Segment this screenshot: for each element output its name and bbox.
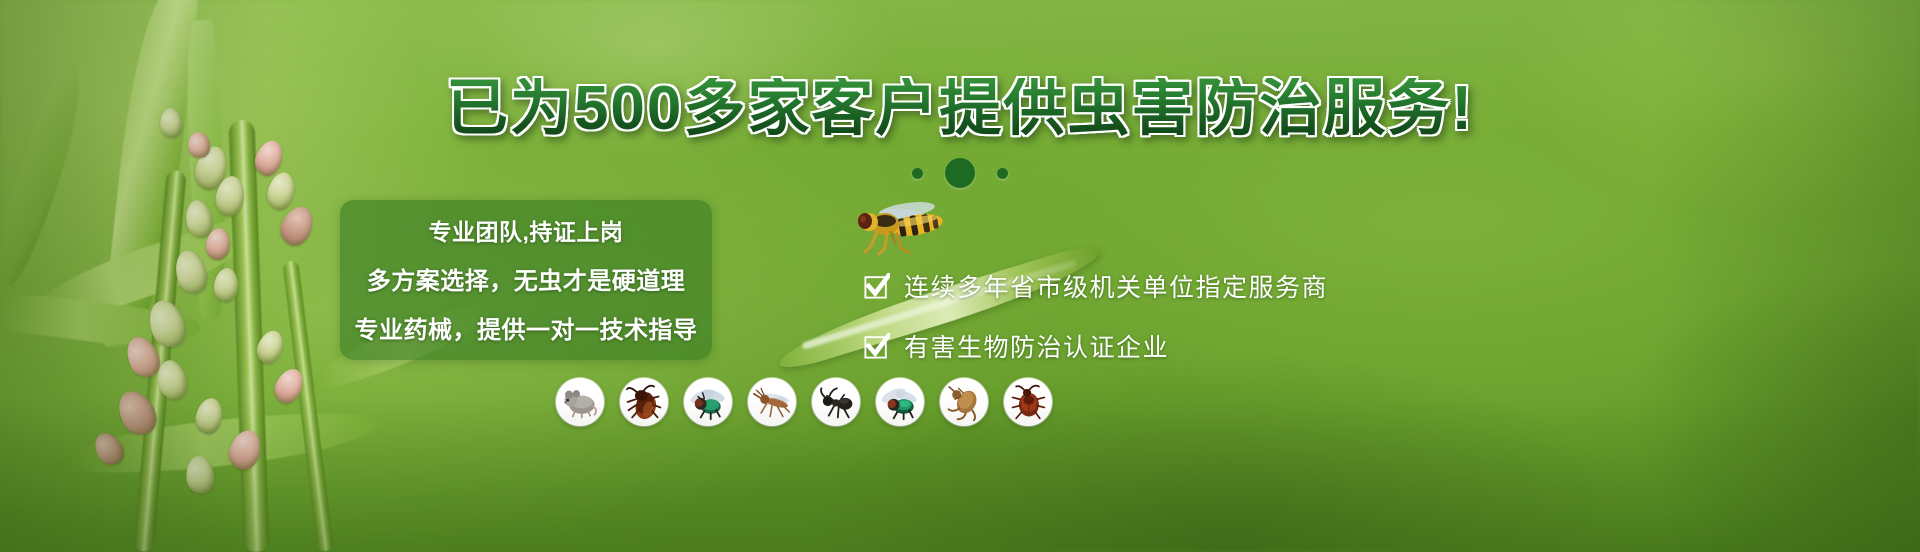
background-vignette: [0, 0, 1920, 552]
pest-control-banner: 已为500多家客户提供虫害防治服务! 专业团队,持证上岗 多方案选择，无虫才是硬…: [0, 0, 1920, 552]
